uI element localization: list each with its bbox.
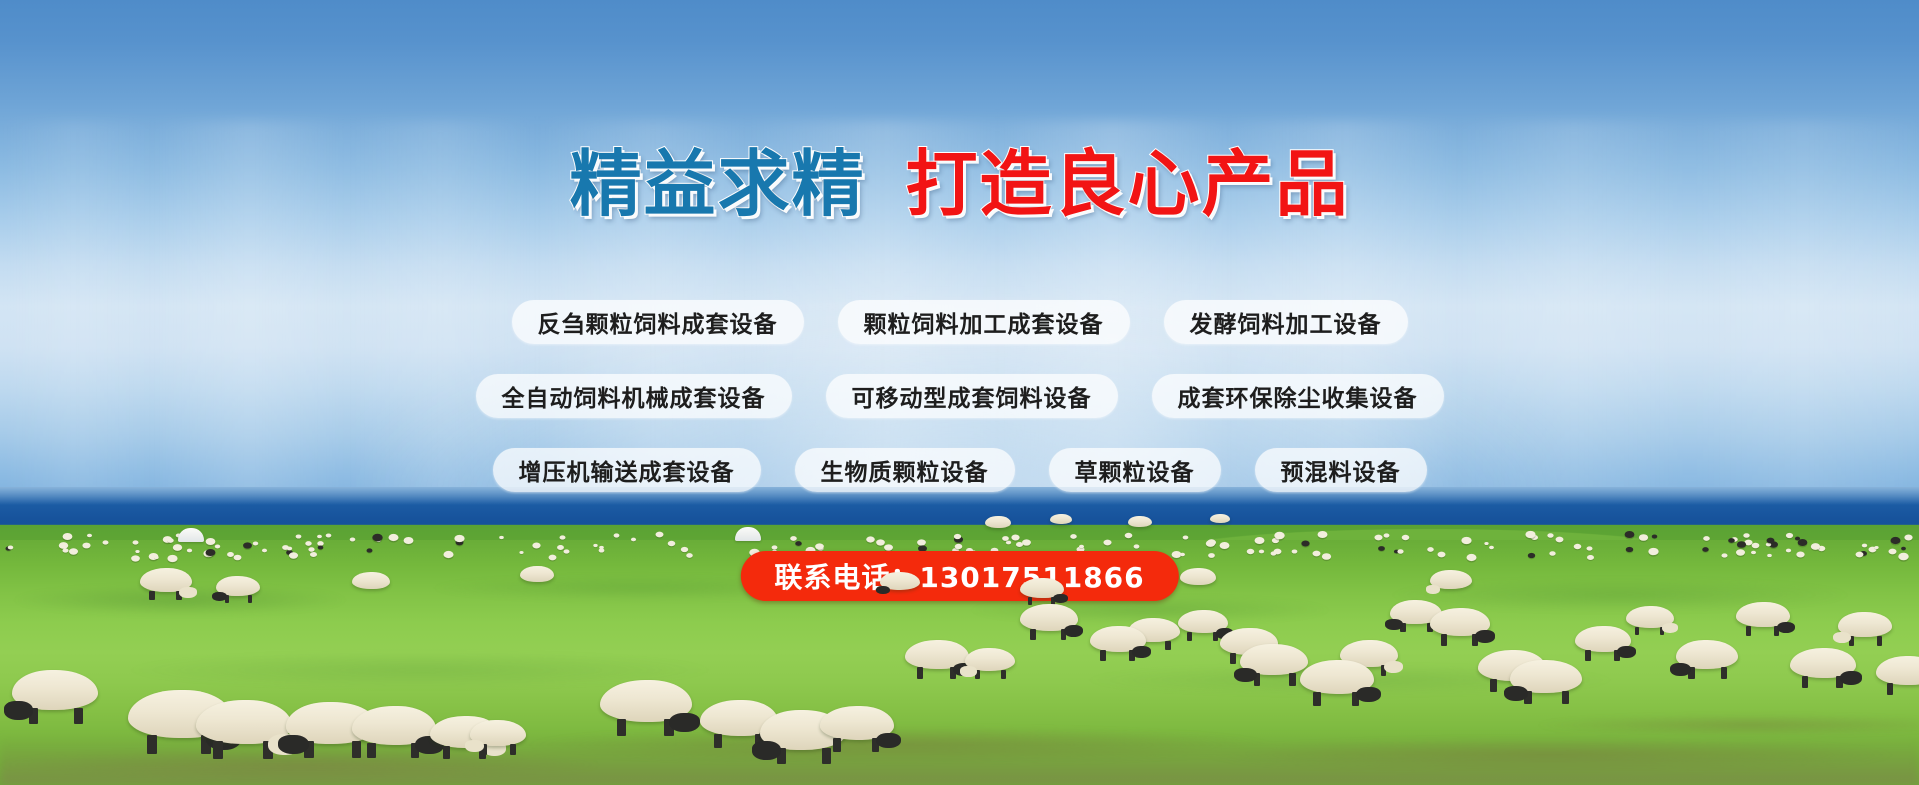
sheep-leg <box>225 595 229 603</box>
sheep <box>1575 626 1631 652</box>
sheep-leg <box>1061 629 1067 640</box>
distant-sheep-speck <box>499 535 504 538</box>
sheep-leg <box>1774 626 1779 636</box>
distant-sheep-speck <box>69 548 78 554</box>
distant-sheep-speck <box>1011 534 1019 540</box>
distant-sheep-speck <box>1271 551 1277 555</box>
sheep <box>985 516 1011 528</box>
distant-sheep-speck <box>1648 547 1658 554</box>
sheep-leg <box>1028 597 1032 605</box>
category-pill-grid: 反刍颗粒饲料成套设备 颗粒饲料加工成套设备 发酵饲料加工设备 全自动饲料机械成套… <box>0 300 1919 522</box>
sheep <box>965 648 1015 671</box>
sheep <box>1178 610 1228 633</box>
category-pill-grass-pellet-equipment[interactable]: 草颗粒设备 <box>1049 448 1221 492</box>
sheep-leg <box>1490 679 1497 691</box>
distant-sheep-speck <box>1751 550 1756 554</box>
distant-sheep-speck <box>205 538 215 545</box>
distant-sheep-speck <box>1555 536 1563 542</box>
sheep <box>1128 516 1152 527</box>
sheep-leg <box>29 708 38 724</box>
sheep <box>1180 568 1216 585</box>
sheep-leg <box>1562 691 1569 704</box>
sheep-leg <box>1400 623 1405 633</box>
distant-sheep-speck <box>1638 534 1647 541</box>
distant-sheep-speck <box>1651 534 1657 538</box>
sheep-leg <box>176 591 181 601</box>
sheep <box>1090 626 1146 652</box>
distant-sheep-speck <box>1016 542 1023 547</box>
sheep <box>520 566 554 582</box>
sheep-leg <box>833 738 840 752</box>
distant-sheep-speck <box>686 553 693 558</box>
distant-sheep-speck <box>1587 546 1593 550</box>
category-pill-premix-equipment[interactable]: 预混料设备 <box>1255 448 1427 492</box>
distant-sheep-speck <box>1219 542 1229 549</box>
distant-sheep-speck <box>1079 544 1084 548</box>
distant-sheep-speck <box>1070 534 1077 539</box>
category-pill-ruminant-pellet-feed-line[interactable]: 反刍颗粒饲料成套设备 <box>512 300 804 344</box>
sheep-leg <box>1614 650 1620 660</box>
distant-sheep-speck <box>1736 550 1745 556</box>
distant-sheep-speck <box>548 555 556 561</box>
sheep-leg <box>443 746 450 759</box>
distant-sheep-speck <box>135 549 139 552</box>
distant-sheep-speck <box>287 547 292 551</box>
sheep-leg <box>1746 626 1751 636</box>
sheep-leg <box>1254 673 1261 685</box>
distant-sheep-speck <box>1124 533 1132 538</box>
sheep-leg <box>617 719 626 736</box>
sheep-leg <box>1802 676 1809 688</box>
sheep-leg <box>1660 627 1665 636</box>
sheep-leg <box>917 667 923 679</box>
sheep <box>1240 644 1308 675</box>
sheep <box>1430 608 1490 636</box>
distant-sheep-speck <box>1874 546 1878 549</box>
sheep <box>352 706 436 745</box>
sheep <box>1300 660 1374 694</box>
sheep-leg <box>304 741 313 758</box>
sheep <box>820 706 894 740</box>
distant-sheep-speck <box>1255 536 1265 543</box>
sheep-leg <box>248 595 252 603</box>
sheep <box>216 576 260 596</box>
sheep-leg <box>510 744 516 754</box>
distant-sheep-speck <box>305 541 312 546</box>
distant-sheep-speck <box>1587 555 1594 560</box>
distant-sheep-speck <box>1259 550 1264 554</box>
sheep-leg <box>352 741 361 758</box>
sheep-leg <box>147 735 157 754</box>
distant-sheep-speck <box>1527 552 1534 557</box>
sheep <box>1790 648 1856 678</box>
sheep-leg <box>411 743 419 759</box>
sheep-leg <box>1313 692 1320 706</box>
distant-sheep-speck <box>234 555 242 561</box>
category-row-3: 增压机输送成套设备 生物质颗粒设备 草颗粒设备 预混料设备 <box>0 448 1919 492</box>
distant-sheep-speck <box>1904 535 1912 541</box>
sheep-leg <box>1635 627 1640 636</box>
distant-sheep-speck <box>560 535 566 539</box>
distant-sheep-speck <box>1206 540 1215 547</box>
sheep-leg <box>1289 673 1296 685</box>
category-row-1: 反刍颗粒饲料成套设备 颗粒饲料加工成套设备 发酵饲料加工设备 <box>0 300 1919 344</box>
sheep <box>600 680 692 722</box>
distant-sheep-speck <box>884 544 893 550</box>
sheep-leg <box>263 741 273 759</box>
distant-sheep-speck <box>1862 543 1867 547</box>
distant-sheep-speck <box>1383 533 1389 537</box>
sheep-leg <box>1585 650 1591 660</box>
distant-sheep-speck <box>1702 547 1709 552</box>
distant-sheep-speck <box>1898 553 1908 560</box>
distant-sheep-speck <box>317 534 322 538</box>
distant-sheep-speck <box>866 536 875 542</box>
sheep <box>1210 514 1230 523</box>
sheep <box>1430 570 1472 589</box>
distant-sheep-speck <box>1786 533 1793 538</box>
distant-sheep-speck <box>1728 538 1735 543</box>
distant-sheep-speck <box>1180 552 1185 556</box>
sheep <box>1626 606 1674 628</box>
sheep-leg <box>1472 634 1478 645</box>
sheep <box>352 572 390 589</box>
distant-sheep-speck <box>1103 539 1111 545</box>
distant-sheep-speck <box>1461 537 1471 544</box>
distant-sheep-speck <box>372 534 382 541</box>
sheep-leg <box>664 719 673 736</box>
distant-sheep-speck <box>63 548 69 552</box>
sheep <box>1838 612 1892 637</box>
sheep-leg <box>1836 676 1843 688</box>
sheep-leg <box>1352 692 1359 706</box>
category-row-2: 全自动饲料机械成套设备 可移动型成套饲料设备 成套环保除尘收集设备 <box>0 374 1919 418</box>
distant-sheep-speck <box>1489 546 1494 550</box>
sheep-leg <box>975 670 980 679</box>
distant-sheep-speck <box>1811 543 1820 550</box>
sheep-leg <box>1165 641 1170 651</box>
distant-sheep-speck <box>317 545 323 549</box>
category-pill-biomass-pellet-equipment[interactable]: 生物质颗粒设备 <box>795 448 1015 492</box>
sheep-leg <box>213 741 223 759</box>
sheep-leg <box>74 708 83 724</box>
distant-sheep-speck <box>1291 549 1297 553</box>
sheep-leg <box>872 738 879 752</box>
distant-sheep-speck <box>876 539 885 545</box>
sheep-leg <box>1688 667 1694 679</box>
sheep <box>1020 604 1078 631</box>
distant-sheep-speck <box>1855 551 1863 557</box>
distant-sheep-speck <box>243 542 252 548</box>
sheep-leg <box>481 744 487 754</box>
sheep-leg <box>1887 683 1893 695</box>
category-pill-fermented-feed-equipment[interactable]: 发酵饲料加工设备 <box>1164 300 1408 344</box>
distant-sheep-speck <box>1374 535 1382 541</box>
sheep-leg <box>777 748 786 764</box>
sheep <box>880 572 920 590</box>
sheep <box>905 640 969 669</box>
category-pill-booster-conveying-line[interactable]: 增压机输送成套设备 <box>493 448 761 492</box>
sheep-leg <box>1100 650 1106 660</box>
distant-sheep-speck <box>1466 554 1476 561</box>
sheep-leg <box>1381 665 1387 676</box>
distant-sheep-speck <box>815 543 824 549</box>
distant-sheep-speck <box>1625 547 1632 552</box>
sheep-leg <box>1213 632 1218 641</box>
sheep-leg <box>1230 653 1236 664</box>
distant-sheep-speck <box>167 555 177 562</box>
distant-sheep-speck <box>289 552 298 559</box>
category-pill-mobile-feed-equipment-line[interactable]: 可移动型成套饲料设备 <box>826 374 1118 418</box>
sheep-leg <box>367 743 375 759</box>
sheep-leg <box>149 591 154 601</box>
sheep <box>1050 514 1072 524</box>
sheep-leg <box>1721 667 1727 679</box>
sheep-leg <box>1030 629 1036 640</box>
hero-banner: 精益求精打造良心产品 反刍颗粒饲料成套设备 颗粒饲料加工成套设备 发酵饲料加工设… <box>0 0 1919 785</box>
distant-sheep-speck <box>563 549 569 553</box>
sheep <box>196 700 292 744</box>
distant-sheep-speck <box>1785 548 1790 552</box>
sheep <box>1736 602 1790 627</box>
distant-sheep-speck <box>1549 551 1555 556</box>
category-pill-fully-automatic-feed-machinery-line[interactable]: 全自动饲料机械成套设备 <box>476 374 792 418</box>
distant-sheep-speck <box>389 534 399 541</box>
sheep-leg <box>1129 650 1135 660</box>
headline-blue: 精益求精 <box>569 148 865 220</box>
sheep-leg <box>714 734 722 748</box>
category-pill-dust-collection-line[interactable]: 成套环保除尘收集设备 <box>1152 374 1444 418</box>
distant-sheep-speck <box>187 548 192 552</box>
sheep-leg <box>1877 636 1882 646</box>
distant-sheep-speck <box>1313 550 1321 556</box>
sheep-leg <box>1849 636 1854 646</box>
sheep <box>1510 660 1582 693</box>
distant-sheep-speck <box>1247 549 1255 554</box>
sheep <box>470 720 526 746</box>
sheep-leg <box>822 748 831 764</box>
sheep <box>12 670 98 710</box>
distant-sheep-speck <box>403 537 413 544</box>
sheep <box>140 568 192 592</box>
distant-sheep-speck <box>1321 553 1330 560</box>
sheep-leg <box>1001 670 1006 679</box>
sheep-leg <box>1187 632 1192 641</box>
sheep <box>1676 640 1738 669</box>
distant-sheep-speck <box>295 535 301 539</box>
sheep-leg <box>1524 691 1531 704</box>
page-title: 精益求精打造良心产品 <box>0 148 1919 220</box>
sheep-leg <box>950 667 956 679</box>
headline-red: 打造良心产品 <box>906 148 1350 220</box>
distant-sheep-speck <box>668 540 676 545</box>
contact-phone-button[interactable]: 联系电话：13017511866 <box>740 551 1178 601</box>
category-pill-pellet-feed-processing-line[interactable]: 颗粒饲料加工成套设备 <box>838 300 1130 344</box>
distant-sheep-speck <box>1006 541 1011 545</box>
sheep-leg <box>1441 634 1447 645</box>
sheep <box>1020 578 1064 598</box>
distant-sheep-speck <box>131 555 140 561</box>
